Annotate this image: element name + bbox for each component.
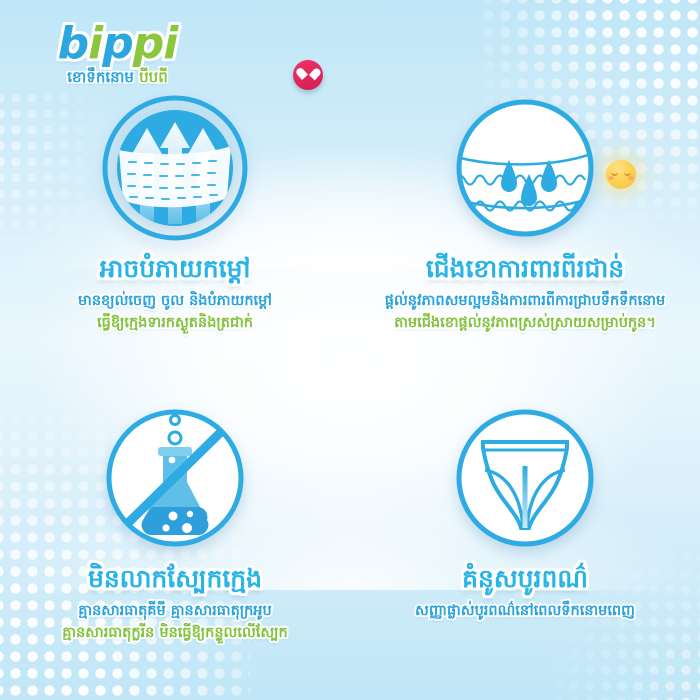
feature-subtitle: សញ្ញាផ្លាស់បូរពណ៌នៅពេលទឹកនោមពេញ [350, 601, 700, 623]
wordmark-letter-b: b [58, 18, 89, 69]
feature-card-breathable: អាចបំភាយកម្តៅ មានខ្យល់ចេញ ចូល និងបំភាយកម… [0, 95, 350, 335]
feature-subtitle: មានខ្យល់ចេញ ចូល និងបំភាយកម្តៅ ធ្វើឱ្យក្ម… [0, 291, 350, 335]
feature-card-absorbent: ជើងខោការពារពីរជាន់ ផ្តល់នូវភាពសមល្អមនិងក… [350, 95, 700, 335]
feature-card-perfect-fit: គំនូសបូរពណ៌ សញ្ញាផ្លាស់បូរពណ៌នៅពេលទឹកនោម… [350, 405, 700, 623]
brand-tagline: ខោទឹកនោម បីបពី [30, 69, 205, 86]
brand-tagline-blue: ខោទឹកនោម [67, 68, 134, 86]
absorption-layers-icon [350, 95, 700, 245]
wordmark-letter-p1: p [102, 18, 133, 69]
wordmark-letter-i1: i [88, 18, 102, 69]
feature-title: មិនលាកស្បែកក្មេង [0, 563, 350, 594]
feature-subtitle-line: ផ្តល់នូវភាពសមល្អមនិងការពារពីការជ្រាបទឹកទ… [350, 291, 700, 313]
feature-subtitle-line: គ្មានសារធាតុគីមី គ្មានសារធាតុក្រអូប [0, 601, 350, 623]
feature-title: ជើងខោការពារពីរជាន់ [350, 253, 700, 284]
brand-tagline-green: បីបពី [139, 68, 168, 86]
feature-title: អាចបំភាយកម្តៅ [0, 253, 350, 284]
wordmark-letter-i2: i [163, 18, 177, 69]
feature-subtitle: ផ្តល់នូវភាពសមល្អមនិងការពារពីការជ្រាបទឹកទ… [350, 291, 700, 335]
feature-subtitle-line: ធ្វើឱ្យក្មេងទារកស្ងួតនិងត្រជាក់ [0, 313, 350, 335]
feature-subtitle-line: មានខ្យល់ចេញ ចូល និងបំភាយកម្តៅ [0, 291, 350, 313]
poster-canvas: bippi ខោទឹកនោម បីបពី [0, 0, 700, 700]
brand-logo[interactable]: bippi ខោទឹកនោម បីបពី [30, 22, 205, 86]
feature-subtitle-line: តាមជើងខោផ្តល់នូវភាពស្រស់ស្រាយសម្រាប់កូន។ [350, 313, 700, 335]
diaper-pants-icon [350, 405, 700, 555]
feature-subtitle: គ្មានសារធាតុគីមី គ្មានសារធាតុក្រអូប គ្មា… [0, 601, 350, 645]
no-chemicals-flask-icon [0, 405, 350, 555]
brand-wordmark: bippi [30, 22, 205, 66]
feature-subtitle-line: គ្មានសារធាតុក្លរីន មិនធ្វើឱ្យកន្ទួលលើស្ប… [0, 623, 350, 645]
wordmark-letter-p2: p [133, 18, 164, 69]
heart-icon [293, 60, 323, 90]
feature-subtitle-line: សញ្ញាផ្លាស់បូរពណ៌នៅពេលទឹកនោមពេញ [350, 601, 700, 623]
breathable-fabric-icon [0, 95, 350, 245]
feature-card-no-chemicals: មិនលាកស្បែកក្មេង គ្មានសារធាតុគីមី គ្មានស… [0, 405, 350, 645]
feature-title: គំនូសបូរពណ៌ [350, 563, 700, 594]
